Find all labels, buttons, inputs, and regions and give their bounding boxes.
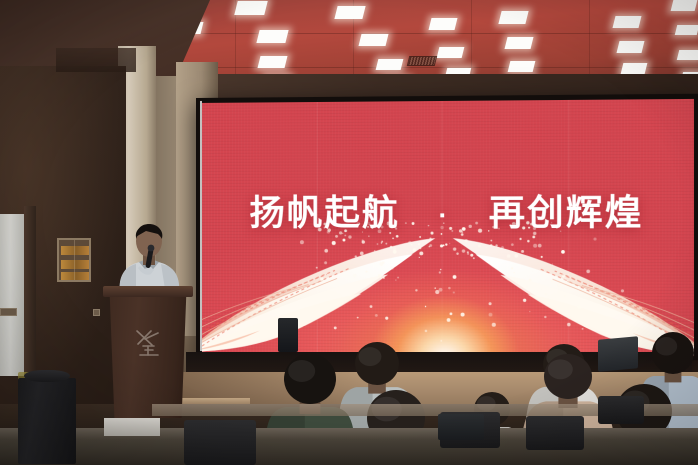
- ceiling-light-panel-1: [234, 1, 267, 15]
- wall-upper-shadow: [56, 48, 136, 72]
- ceiling-light-panel-21: [429, 18, 458, 30]
- slide-title-right: 再创辉煌: [489, 193, 644, 233]
- ceiling-light-panel-7: [505, 37, 534, 49]
- ceiling-light-panel-8: [617, 41, 645, 53]
- ceiling-light-panel-22: [437, 47, 465, 58]
- paper-on-desk: [104, 418, 160, 436]
- chair-back[interactable]: [598, 396, 644, 424]
- laptop-on-desk[interactable]: [598, 336, 638, 371]
- podium-top-surface: [103, 286, 193, 297]
- ceiling-light-panel-17: [671, 0, 698, 11]
- handheld-camera-icon: [278, 318, 298, 352]
- chair-back[interactable]: [526, 416, 584, 450]
- ceiling-light-panel-9: [258, 56, 288, 68]
- laptop-on-desk-2[interactable]: [438, 414, 484, 440]
- wall-notice-board: [57, 238, 91, 282]
- notice-board-row: [61, 272, 89, 281]
- ceiling-light-panel-18: [675, 25, 698, 35]
- ceiling-light-panel-4: [613, 16, 642, 28]
- slide-title-separator: ·: [412, 200, 477, 231]
- ceiling-light-panel-3: [498, 11, 528, 24]
- photo-scene: 扬帆起航 · 再创辉煌: [0, 0, 698, 465]
- ceiling-light-panel-19: [677, 50, 698, 60]
- slide-title: 扬帆起航 · 再创辉煌: [202, 184, 694, 237]
- chair-back[interactable]: [184, 420, 256, 465]
- ceiling-light-panel-2: [334, 6, 365, 19]
- notice-board-divider: [74, 240, 75, 282]
- ceiling-light-panel-6: [359, 34, 389, 46]
- ceiling-light-panel-11: [508, 61, 536, 72]
- ceiling-light-panel-10: [376, 59, 404, 70]
- ceiling-light-panel-12: [621, 63, 648, 74]
- floor-pa-speaker: [18, 378, 76, 464]
- notice-board-row: [61, 260, 89, 269]
- notice-board-row: [61, 246, 89, 255]
- air-vent-icon-2: [407, 56, 437, 66]
- slide-title-left: 扬帆起航: [250, 194, 400, 234]
- ceiling-light-panel-5: [256, 30, 288, 43]
